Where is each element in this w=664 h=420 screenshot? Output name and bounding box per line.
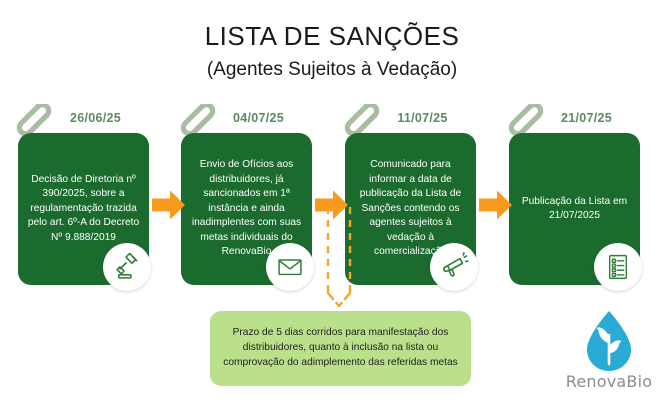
arrow-right-icon: [479, 189, 513, 221]
note-box[interactable]: Prazo de 5 dias corridos para manifestaç…: [210, 311, 471, 386]
renovabio-wordmark: RenovaBio: [561, 372, 657, 391]
dashed-arrow-down-icon: [300, 205, 380, 313]
slide-canvas: LISTA DE SANÇÕES (Agentes Sujeitos à Ved…: [0, 0, 664, 420]
step-date-4: 21/07/25: [521, 111, 652, 125]
title-block: LISTA DE SANÇÕES (Agentes Sujeitos à Ved…: [0, 22, 664, 81]
arrow-right-icon: [152, 189, 186, 221]
step-card-text-1: Decisão de Diretoria nº 390/2025, sobre …: [27, 173, 140, 245]
step-date-3: 11/07/25: [357, 111, 488, 125]
megaphone-icon: [430, 243, 478, 291]
checklist-icon: [594, 243, 642, 291]
step-date-1: 26/06/25: [30, 111, 161, 125]
step-date-2: 04/07/25: [193, 111, 324, 125]
gavel-icon: [103, 243, 151, 291]
step-card-text-4: Publicação da Lista em 21/07/2025: [518, 195, 631, 224]
page-title: LISTA DE SANÇÕES: [0, 22, 664, 52]
page-subtitle: (Agentes Sujeitos à Vedação): [0, 59, 664, 81]
water-drop-plant-icon: [583, 310, 635, 374]
renovabio-logo: RenovaBio: [561, 310, 657, 406]
note-box-text: Prazo de 5 dias corridos para manifestaç…: [220, 326, 461, 370]
